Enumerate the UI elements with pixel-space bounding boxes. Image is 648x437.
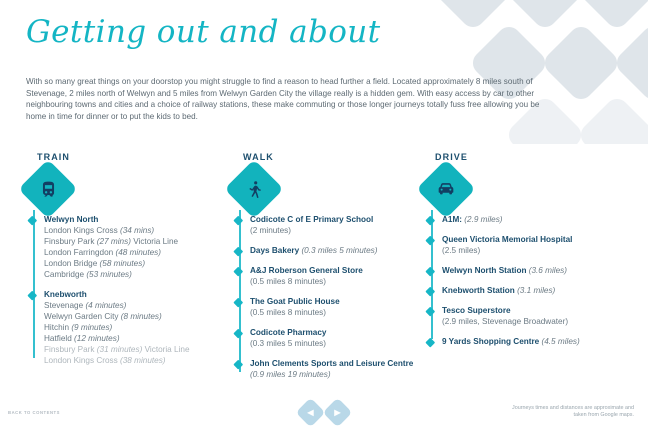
diamond-bullet-icon: [425, 337, 434, 346]
column-heading-walk: WALK: [243, 152, 422, 162]
line-detail: (53 minutes): [86, 270, 132, 279]
group-title: Welwyn North Station (3.6 miles): [442, 265, 639, 276]
list-item[interactable]: Welwyn North London Kings Cross (34 mins…: [44, 214, 231, 280]
group-title-text: A1M:: [442, 215, 462, 224]
list-line: London Farringdon (48 minutes): [44, 247, 231, 258]
back-to-contents-link[interactable]: BACK TO CONTENTS: [8, 410, 60, 415]
diamond-bullet-icon: [425, 215, 434, 224]
prev-page-button[interactable]: ◀: [296, 398, 326, 428]
drive-timeline: A1M: (2.9 miles) Queen Victoria Memorial…: [424, 214, 639, 347]
group-title: Codicote Pharmacy: [250, 327, 422, 338]
timeline-line: [33, 210, 35, 358]
list-line: Finsbury Park (27 mins) Victoria Line: [44, 236, 231, 247]
line-name: London Kings Cross: [44, 226, 118, 235]
list-line: Stevenage (4 minutes): [44, 300, 231, 311]
diamond-bullet-icon: [425, 235, 434, 244]
chevron-right-icon: ▶: [327, 402, 348, 423]
train-timeline: Welwyn North London Kings Cross (34 mins…: [26, 214, 231, 366]
list-item[interactable]: The Goat Public House (0.5 miles 8 minut…: [250, 296, 422, 318]
group-title: A1M: (2.9 miles): [442, 214, 639, 225]
line-name: Finsbury Park: [44, 345, 95, 354]
group-title: John Clements Sports and Leisure Centre …: [250, 358, 422, 380]
group-title: Knebworth Station (3.1 miles): [442, 285, 639, 296]
line-name: Hatfield: [44, 334, 72, 343]
list-item[interactable]: Codicote Pharmacy (0.3 miles 5 minutes): [250, 327, 422, 349]
line-name: Hitchin: [44, 323, 69, 332]
group-detail: (0.9 miles 19 minutes): [250, 370, 331, 379]
car-icon: [425, 168, 467, 210]
group-title-text: John Clements Sports and Leisure Centre: [250, 359, 413, 368]
column-heading-drive: DRIVE: [435, 152, 639, 162]
walking-person-icon: [233, 168, 275, 210]
list-line: London Kings Cross (34 mins): [44, 225, 231, 236]
line-name: London Kings Cross: [44, 356, 118, 365]
list-item[interactable]: Knebworth Station (3.1 miles): [442, 285, 639, 296]
diamond-bullet-icon: [425, 286, 434, 295]
group-title-text: Days Bakery: [250, 246, 299, 255]
drive-mode-badge: [416, 159, 475, 218]
line-name: Cambridge: [44, 270, 84, 279]
diamond-bullet-icon: [233, 359, 242, 368]
disclaimer-text: Journeys times and distances are approxi…: [504, 405, 634, 420]
decorative-diamond-pattern: [438, 0, 648, 144]
list-line: Hitchin (9 minutes): [44, 322, 231, 333]
group-detail: (0.5 miles 8 minutes): [250, 276, 422, 287]
line-detail: (9 minutes): [71, 323, 112, 332]
group-detail: (3.6 miles): [529, 266, 567, 275]
page-root: Getting out and about With so many great…: [0, 0, 648, 437]
list-item[interactable]: A&J Roberson General Store (0.5 miles 8 …: [250, 265, 422, 287]
chevron-left-icon: ◀: [300, 402, 321, 423]
group-title: Welwyn North: [44, 214, 231, 225]
group-detail: (2.5 miles): [442, 245, 639, 256]
group-title: Days Bakery (0.3 miles 5 minutes): [250, 245, 422, 256]
list-line: Welwyn Garden City (8 minutes): [44, 311, 231, 322]
train-icon: [27, 168, 69, 210]
column-drive: DRIVE A1M: (2.9 miles) Queen Victoria Me…: [424, 152, 639, 347]
line-detail: (34 mins): [120, 226, 154, 235]
group-title-text: Knebworth Station: [442, 286, 515, 295]
line-detail: (48 minutes): [115, 248, 161, 257]
walk-mode-badge: [224, 159, 283, 218]
line-suffix: Victoria Line: [142, 345, 189, 354]
line-detail: (27 mins): [97, 237, 131, 246]
line-detail: (58 minutes): [100, 259, 146, 268]
group-title: The Goat Public House: [250, 296, 422, 307]
column-heading-train: TRAIN: [37, 152, 231, 162]
line-suffix: Victoria Line: [131, 237, 178, 246]
group-detail: (0.3 miles 5 minutes): [301, 246, 377, 255]
group-detail: (2.9 miles): [464, 215, 502, 224]
column-walk: WALK Codicote C of E Primary School (2 m…: [232, 152, 422, 380]
list-item[interactable]: 9 Yards Shopping Centre (4.5 miles): [442, 336, 639, 347]
group-title: Tesco Superstore: [442, 305, 639, 316]
line-name: London Bridge: [44, 259, 97, 268]
diamond-bullet-icon: [233, 246, 242, 255]
list-item[interactable]: Queen Victoria Memorial Hospital (2.5 mi…: [442, 234, 639, 256]
page-title: Getting out and about: [26, 14, 381, 50]
list-item[interactable]: Welwyn North Station (3.6 miles): [442, 265, 639, 276]
line-name: London Farringdon: [44, 248, 113, 257]
group-detail: (2.9 miles, Stevenage Broadwater): [442, 316, 639, 327]
diamond-bullet-icon: [425, 306, 434, 315]
list-line: Cambridge (53 minutes): [44, 269, 231, 280]
diamond-bullet-icon: [425, 266, 434, 275]
diamond-bullet-icon: [27, 290, 36, 299]
group-title: Codicote C of E Primary School: [250, 214, 422, 225]
group-title: Knebworth: [44, 289, 231, 300]
line-detail: (31 minutes): [97, 345, 143, 354]
list-item[interactable]: Codicote C of E Primary School (2 minute…: [250, 214, 422, 236]
list-item[interactable]: Knebworth Stevenage (4 minutes) Welwyn G…: [44, 289, 231, 366]
group-title: A&J Roberson General Store: [250, 265, 422, 276]
line-name: Welwyn Garden City: [44, 312, 118, 321]
diamond-bullet-icon: [233, 266, 242, 275]
list-item[interactable]: A1M: (2.9 miles): [442, 214, 639, 225]
column-train: TRAIN Welwyn North London Kings Cross (3…: [26, 152, 231, 366]
walk-timeline: Codicote C of E Primary School (2 minute…: [232, 214, 422, 380]
group-detail: (4.5 miles): [542, 337, 580, 346]
line-detail: (8 minutes): [121, 312, 162, 321]
page-navigation: ◀ ▶: [300, 402, 348, 423]
group-detail: (2 minutes): [250, 225, 422, 236]
diamond-bullet-icon: [233, 215, 242, 224]
group-title-text: 9 Yards Shopping Centre: [442, 337, 539, 346]
list-line: London Bridge (58 minutes): [44, 258, 231, 269]
line-name: Stevenage: [44, 301, 83, 310]
group-title: 9 Yards Shopping Centre (4.5 miles): [442, 336, 639, 347]
list-item[interactable]: John Clements Sports and Leisure Centre …: [250, 358, 422, 380]
train-mode-badge: [18, 159, 77, 218]
diamond-bullet-icon: [27, 215, 36, 224]
group-title: Queen Victoria Memorial Hospital: [442, 234, 639, 245]
line-detail: (12 minutes): [74, 334, 120, 343]
line-detail: (4 minutes): [85, 301, 126, 310]
list-line: London Kings Cross (38 minutes): [44, 355, 231, 366]
group-detail: (0.3 miles 5 minutes): [250, 338, 422, 349]
diamond-bullet-icon: [233, 328, 242, 337]
list-item[interactable]: Days Bakery (0.3 miles 5 minutes): [250, 245, 422, 256]
list-line: Finsbury Park (31 minutes) Victoria Line: [44, 344, 231, 355]
group-detail: (3.1 miles): [517, 286, 555, 295]
group-detail: (0.5 miles 8 minutes): [250, 307, 422, 318]
timeline-line: [239, 210, 241, 372]
line-detail: (38 minutes): [120, 356, 166, 365]
line-name: Finsbury Park: [44, 237, 95, 246]
list-line: Hatfield (12 minutes): [44, 333, 231, 344]
diamond-bullet-icon: [233, 297, 242, 306]
next-page-button[interactable]: ▶: [323, 398, 353, 428]
intro-paragraph: With so many great things on your doorst…: [26, 76, 541, 122]
list-item[interactable]: Tesco Superstore (2.9 miles, Stevenage B…: [442, 305, 639, 327]
group-title-text: Welwyn North Station: [442, 266, 526, 275]
